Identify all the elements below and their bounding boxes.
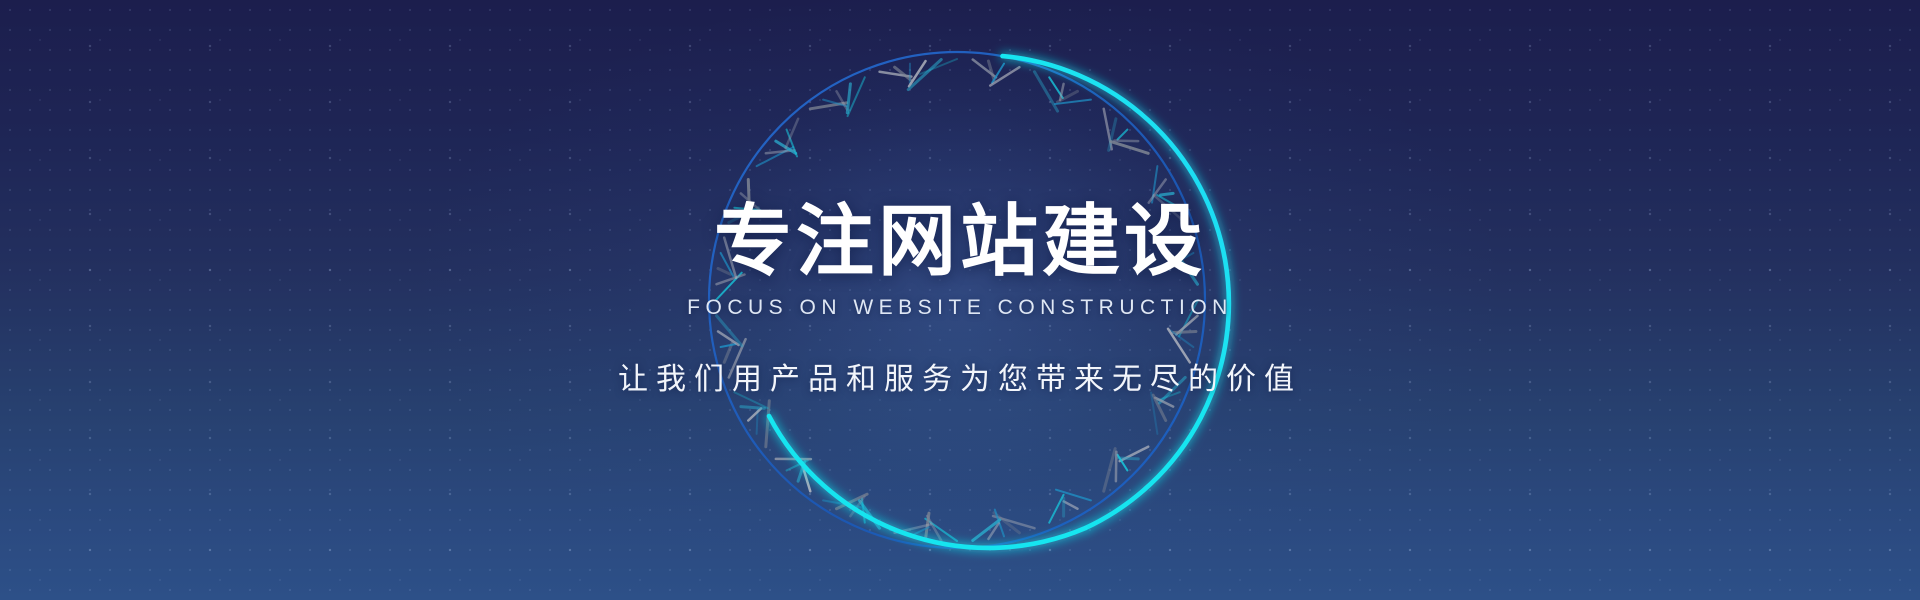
page-title: 专注网站建设 [714, 202, 1206, 280]
subtitle-chinese: 让我们用产品和服务为您带来无尽的价值 [618, 354, 1302, 398]
banner-content: 专注网站建设 FOCUS ON WEBSITE CONSTRUCTION 让我们… [0, 0, 1920, 600]
subtitle-english: FOCUS ON WEBSITE CONSTRUCTION [687, 296, 1233, 320]
hero-banner: 专注网站建设 FOCUS ON WEBSITE CONSTRUCTION 让我们… [0, 0, 1920, 600]
